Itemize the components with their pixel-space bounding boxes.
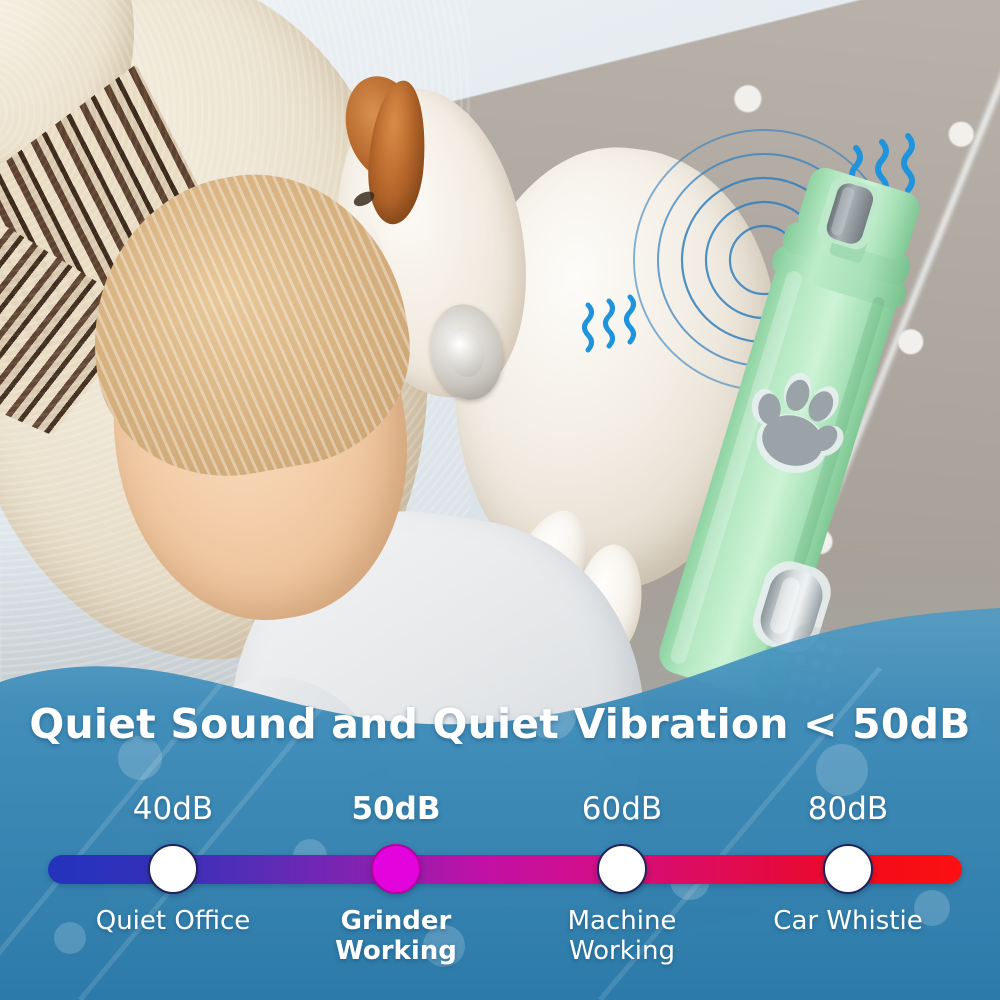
scale-caption-1: Grinder Working	[335, 906, 457, 966]
caption-line: Grinder	[335, 906, 457, 936]
caption-line: Working	[335, 936, 457, 966]
caption-line: Working	[568, 936, 677, 966]
scale-marker-0[interactable]	[148, 844, 198, 894]
decibel-scale: 40dB 50dB 60dB 80dB Quiet Office Grinder…	[0, 0, 1000, 1000]
scale-marker-3[interactable]	[823, 844, 873, 894]
scale-caption-2: Machine Working	[568, 906, 677, 966]
product-infographic: Quiet Sound and Quiet Vibration < 50dB 4…	[0, 0, 1000, 1000]
caption-line: Machine	[568, 906, 677, 936]
db-label-3: 80dB	[808, 791, 888, 827]
db-label-2: 60dB	[582, 791, 662, 827]
db-label-1: 50dB	[352, 791, 441, 827]
scale-marker-2[interactable]	[597, 844, 647, 894]
scale-caption-3: Car Whistie	[773, 906, 922, 936]
scale-marker-1-active[interactable]	[371, 844, 421, 894]
scale-caption-0: Quiet Office	[96, 906, 251, 936]
db-label-0: 40dB	[133, 791, 213, 827]
caption-line: Car Whistie	[773, 906, 922, 936]
caption-line: Quiet Office	[96, 906, 251, 936]
